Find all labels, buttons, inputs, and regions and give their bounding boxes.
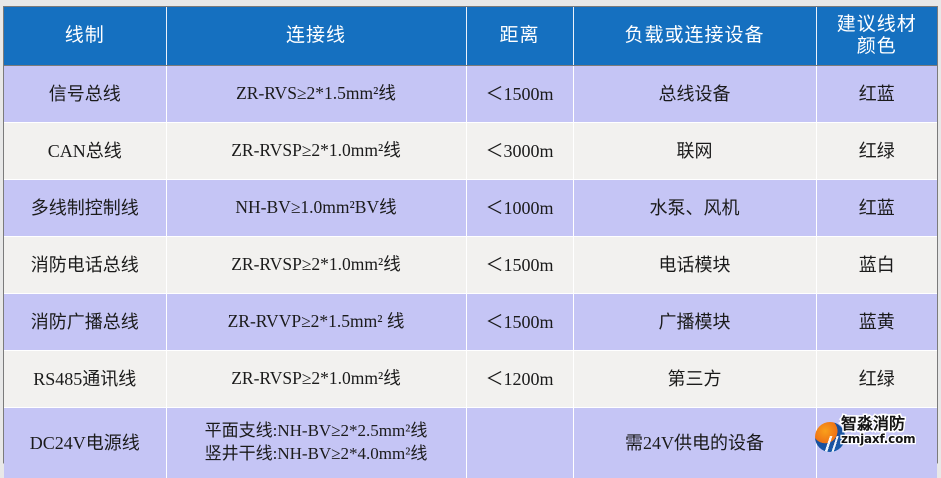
cell-suggested-color	[816, 408, 937, 478]
cell-connection-wire: ZR-RVVP≥2*1.5mm² 线	[166, 294, 466, 351]
column-header-distance: 距离	[466, 7, 573, 66]
cell-distance: ＜1500m	[466, 237, 573, 294]
cell-wiring-type: 信号总线	[4, 66, 166, 123]
cable-spec-table: 线制 连接线 距离 负载或连接设备 建议线材颜色 信号总线 ZR-RVS≥2*1…	[4, 7, 937, 478]
cell-distance	[466, 408, 573, 478]
cable-spec-table-container: 线制 连接线 距离 负载或连接设备 建议线材颜色 信号总线 ZR-RVS≥2*1…	[3, 6, 938, 463]
table-row: 消防电话总线 ZR-RVSP≥2*1.0mm²线 ＜1500m 电话模块 蓝白	[4, 237, 937, 294]
table-row: RS485通讯线 ZR-RVSP≥2*1.0mm²线 ＜1200m 第三方 红绿	[4, 351, 937, 408]
cell-connection-wire: ZR-RVSP≥2*1.0mm²线	[166, 123, 466, 180]
table-row: 多线制控制线 NH-BV≥1.0mm²BV线 ＜1000m 水泵、风机 红蓝	[4, 180, 937, 237]
column-header-load-device: 负载或连接设备	[573, 7, 816, 66]
table-row: 消防广播总线 ZR-RVVP≥2*1.5mm² 线 ＜1500m 广播模块 蓝黄	[4, 294, 937, 351]
header-row: 线制 连接线 距离 负载或连接设备 建议线材颜色	[4, 7, 937, 66]
table-row: 信号总线 ZR-RVS≥2*1.5mm²线 ＜1500m 总线设备 红蓝	[4, 66, 937, 123]
cell-wiring-type: 消防广播总线	[4, 294, 166, 351]
cell-connection-wire: 平面支线:NH-BV≥2*2.5mm²线竖井干线:NH-BV≥2*4.0mm²线	[166, 408, 466, 478]
cell-connection-wire-text: 平面支线:NH-BV≥2*2.5mm²线竖井干线:NH-BV≥2*4.0mm²线	[205, 420, 428, 465]
cell-suggested-color: 红绿	[816, 351, 937, 408]
cell-distance: ＜1000m	[466, 180, 573, 237]
cell-distance: ＜1500m	[466, 294, 573, 351]
cell-suggested-color: 红绿	[816, 123, 937, 180]
cell-wiring-type: RS485通讯线	[4, 351, 166, 408]
cell-suggested-color: 蓝白	[816, 237, 937, 294]
table-row: CAN总线 ZR-RVSP≥2*1.0mm²线 ＜3000m 联网 红绿	[4, 123, 937, 180]
cell-connection-wire: ZR-RVS≥2*1.5mm²线	[166, 66, 466, 123]
cell-load-device: 需24V供电的设备	[573, 408, 816, 478]
cell-load-device: 水泵、风机	[573, 180, 816, 237]
cell-distance: ＜1200m	[466, 351, 573, 408]
cell-distance: ＜3000m	[466, 123, 573, 180]
cell-wiring-type: CAN总线	[4, 123, 166, 180]
table-body: 信号总线 ZR-RVS≥2*1.5mm²线 ＜1500m 总线设备 红蓝 CAN…	[4, 66, 937, 478]
cell-connection-wire: NH-BV≥1.0mm²BV线	[166, 180, 466, 237]
cell-load-device: 总线设备	[573, 66, 816, 123]
cell-connection-wire: ZR-RVSP≥2*1.0mm²线	[166, 351, 466, 408]
column-header-wiring-type: 线制	[4, 7, 166, 66]
cell-suggested-color: 红蓝	[816, 66, 937, 123]
cell-wiring-type: 多线制控制线	[4, 180, 166, 237]
cell-load-device: 电话模块	[573, 237, 816, 294]
column-header-connection-wire: 连接线	[166, 7, 466, 66]
cell-wiring-type: 消防电话总线	[4, 237, 166, 294]
cell-load-device: 联网	[573, 123, 816, 180]
table-header: 线制 连接线 距离 负载或连接设备 建议线材颜色	[4, 7, 937, 66]
cell-wiring-type: DC24V电源线	[4, 408, 166, 478]
cell-suggested-color: 红蓝	[816, 180, 937, 237]
column-header-suggested-color: 建议线材颜色	[816, 7, 937, 66]
cell-load-device: 第三方	[573, 351, 816, 408]
table-row: DC24V电源线 平面支线:NH-BV≥2*2.5mm²线竖井干线:NH-BV≥…	[4, 408, 937, 478]
cell-suggested-color: 蓝黄	[816, 294, 937, 351]
cell-load-device: 广播模块	[573, 294, 816, 351]
cell-connection-wire: ZR-RVSP≥2*1.0mm²线	[166, 237, 466, 294]
cell-distance: ＜1500m	[466, 66, 573, 123]
